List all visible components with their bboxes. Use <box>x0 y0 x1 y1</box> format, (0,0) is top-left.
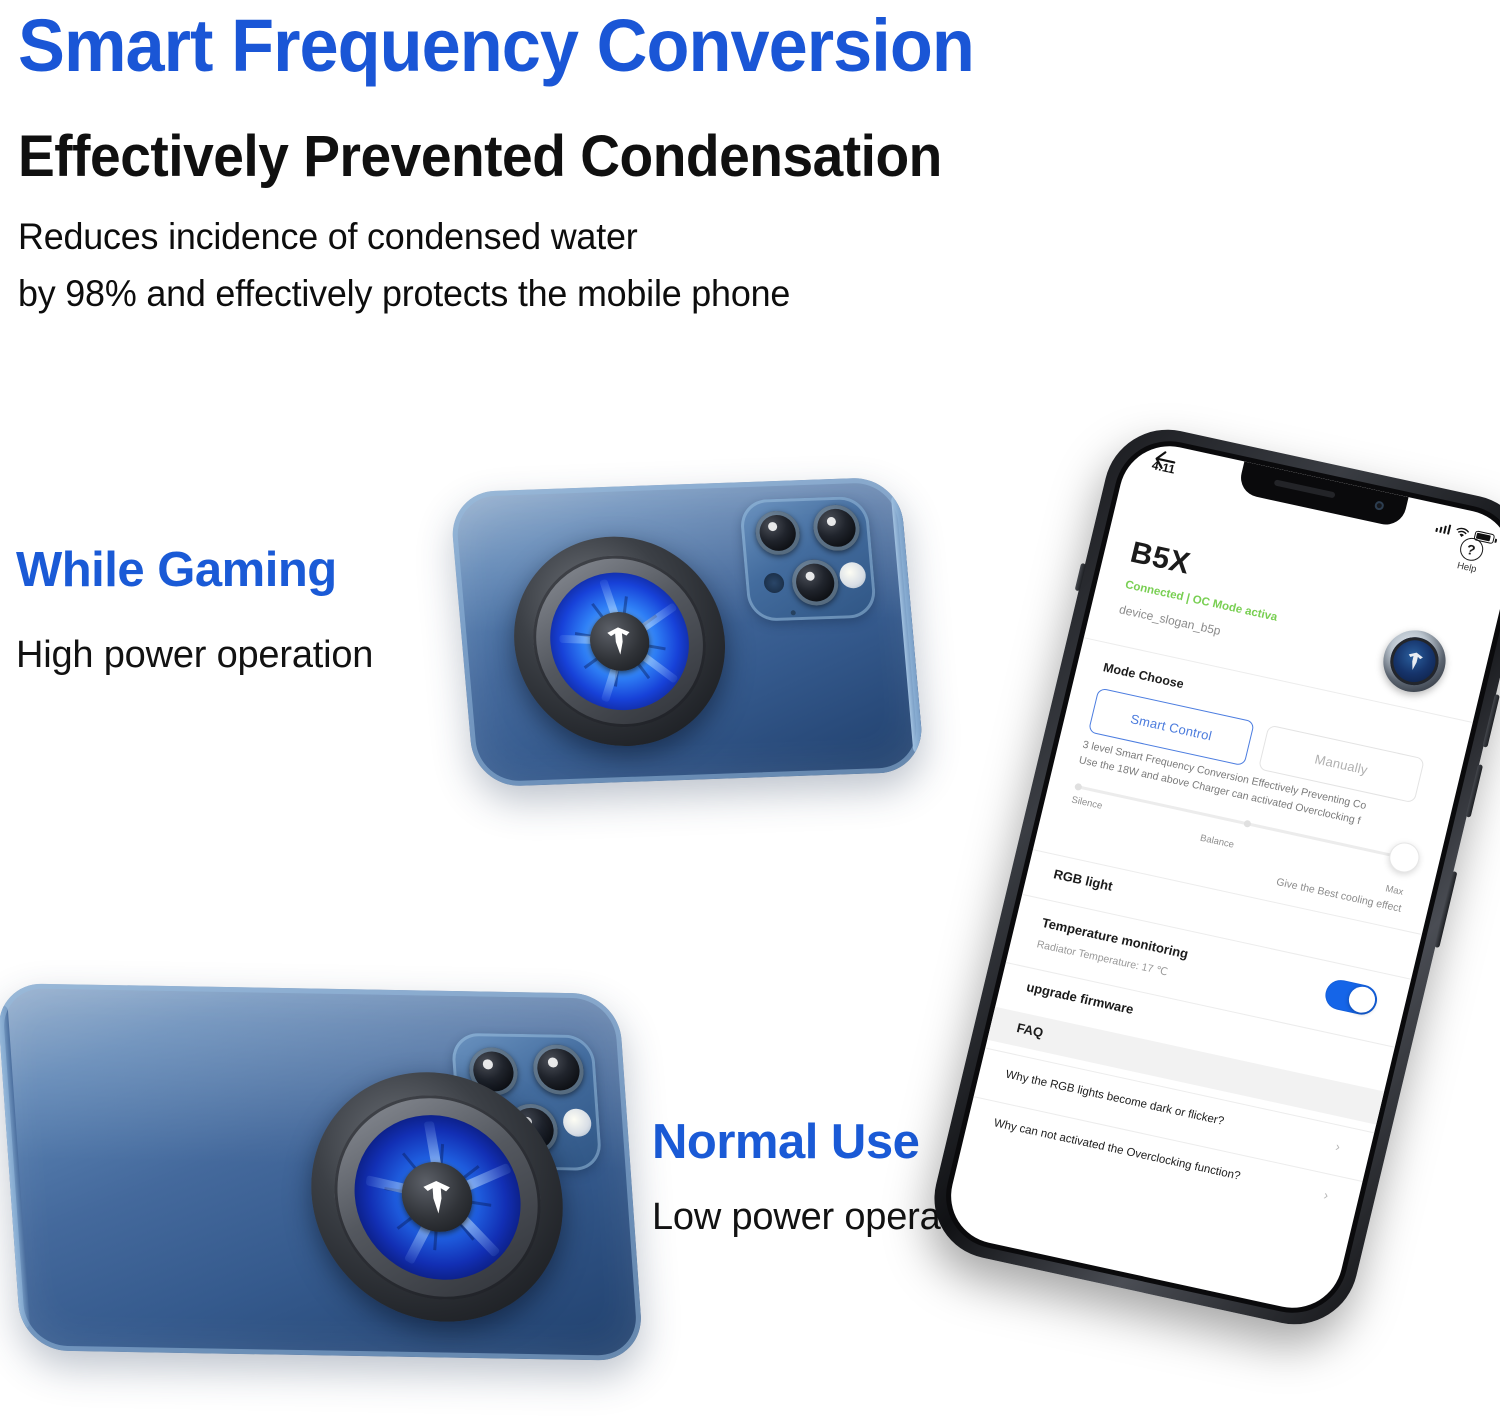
phone-back-normal <box>0 983 644 1361</box>
body-line-2: by 98% and effectively protects the mobi… <box>18 265 790 322</box>
phone-gloss <box>0 983 631 1170</box>
brand-logo-icon <box>1401 648 1428 674</box>
cooler-glow <box>544 570 695 713</box>
callout-gaming-desc: High power operation <box>16 634 373 677</box>
mode-choose-label: Mode Choose <box>1102 660 1185 691</box>
wifi-icon <box>1454 526 1471 540</box>
signal-bars-icon <box>1435 522 1452 535</box>
brand-logo-icon <box>415 1176 459 1217</box>
page-subtitle: Effectively Prevented Condensation <box>18 124 942 190</box>
camera-sensor-dot <box>791 610 796 615</box>
phone-frame: 4:11 <box>922 418 1500 1336</box>
product-photo-gaming <box>452 462 922 802</box>
slider-label-balance: Balance <box>1199 833 1235 851</box>
front-camera-icon <box>1374 500 1385 511</box>
app-phone-mockup: 4:11 <box>922 418 1500 1336</box>
camera-microphone <box>763 573 785 594</box>
page-body-text: Reduces incidence of condensed water by … <box>18 208 790 322</box>
camera-lens <box>532 1044 586 1095</box>
cooler-mid-ring <box>526 553 713 731</box>
cooler-fan-icon <box>1385 633 1444 690</box>
volume-up-button[interactable] <box>1482 694 1499 748</box>
phone-right-edge <box>891 494 925 754</box>
mute-switch[interactable] <box>1075 563 1086 591</box>
slider-hint: Give the Best cooling effect <box>1275 876 1403 915</box>
app-screen: 4:11 <box>941 437 1500 1317</box>
cooler-outer-ring <box>303 1070 571 1324</box>
slider-tick-dot <box>1074 783 1082 791</box>
earpiece-speaker <box>1274 479 1336 498</box>
cooler-fan-normal <box>303 1070 571 1324</box>
cooler-hub <box>588 611 652 672</box>
chevron-right-icon[interactable]: › <box>1334 1139 1342 1155</box>
cooler-fan-gaming <box>505 533 733 750</box>
row-upgrade-firmware[interactable]: upgrade firmware <box>1025 979 1135 1017</box>
device-name: B5X <box>1127 536 1193 582</box>
slider-label-max: Max <box>1384 883 1404 898</box>
camera-module <box>451 1033 603 1171</box>
slider-knob[interactable] <box>1386 840 1422 876</box>
camera-lens <box>754 510 802 555</box>
phone-notch <box>1237 461 1409 528</box>
camera-flash <box>562 1108 592 1136</box>
callout-normal-title: Normal Use <box>652 1114 919 1170</box>
product-photo-normal <box>4 972 664 1402</box>
status-bar-icons <box>1435 521 1496 544</box>
battery-icon <box>1473 530 1495 544</box>
body-line-1: Reduces incidence of condensed water <box>18 208 790 265</box>
page-title: Smart Frequency Conversion <box>18 4 974 88</box>
camera-flash <box>839 562 867 589</box>
help-label: Help <box>1456 560 1478 575</box>
cooler-glow <box>348 1113 525 1280</box>
slider-label-silence: Silence <box>1070 794 1103 811</box>
phone-left-edge <box>0 1005 30 1328</box>
phone-back-gaming <box>449 477 925 788</box>
cooler-hub <box>399 1161 474 1232</box>
phone-bezel: 4:11 <box>935 431 1500 1323</box>
status-bar-time: 4:11 <box>1150 458 1176 477</box>
camera-lens <box>506 1104 560 1155</box>
volume-down-button[interactable] <box>1466 764 1483 818</box>
cooler-vents <box>379 1142 496 1253</box>
slider-tick-dot <box>1243 820 1251 828</box>
device-thumbnail[interactable] <box>1377 624 1452 697</box>
camera-lens <box>811 504 861 551</box>
cooler-mid-ring <box>327 1093 547 1301</box>
camera-lens <box>790 559 840 606</box>
chevron-right-icon[interactable]: › <box>1322 1187 1330 1203</box>
toggle-knob <box>1346 984 1377 1015</box>
cooler-vents <box>570 594 670 688</box>
camera-module <box>739 496 878 622</box>
cooler-outer-ring <box>505 533 733 750</box>
camera-lens <box>468 1047 520 1096</box>
brand-logo-icon <box>601 624 638 659</box>
divider <box>1033 849 1422 935</box>
temperature-monitoring-toggle[interactable] <box>1322 977 1380 1017</box>
callout-gaming-title: While Gaming <box>16 542 337 598</box>
row-rgb-light[interactable]: RGB light <box>1052 866 1114 893</box>
phone-gloss <box>449 477 912 634</box>
